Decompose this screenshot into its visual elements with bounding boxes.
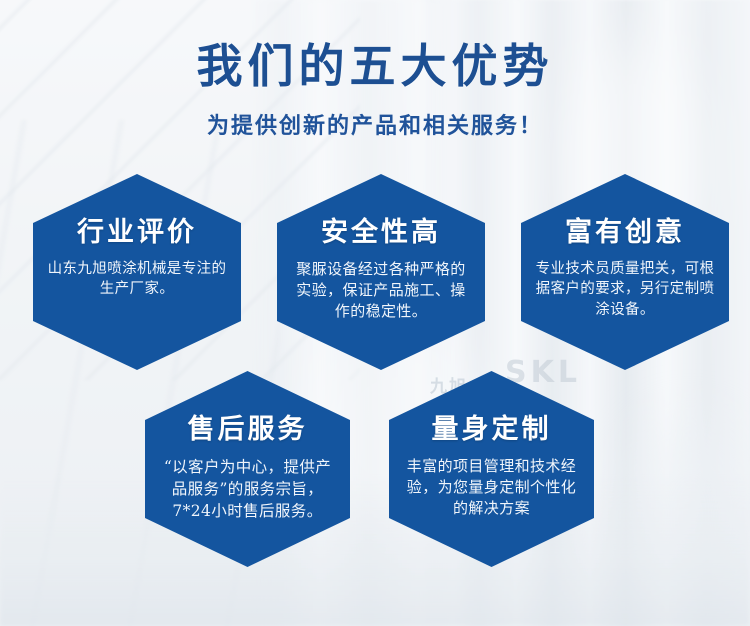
header: 我们的五大优势 为提供创新的产品和相关服务！ [0,38,750,140]
advantage-description: 聚脲设备经过各种严格的实验，保证产品施工、操作的稳定性。 [283,259,479,323]
advantage-description: “以客户为中心，提供产品服务”的服务宗旨，7*24小时售后服务。 [151,456,344,522]
poster-canvas: SKL 九旭 我们的五大优势 为提供创新的产品和相关服务！ 行业评价 山东九旭喷… [0,0,750,626]
advantage-title: 量身定制 [395,414,588,446]
advantage-card-content: 安全性高 聚脲设备经过各种严格的实验，保证产品施工、操作的稳定性。 [283,217,479,322]
page-title: 我们的五大优势 [0,38,750,96]
page-subtitle: 为提供创新的产品和相关服务！ [0,108,750,140]
advantage-description: 丰富的项目管理和技术经验，为您量身定制个性化的解决方案 [395,456,588,520]
advantage-card-content: 富有创意 专业技术员质量把关，可根据客户的要求，另行定制喷涂设备。 [527,217,723,320]
advantage-card-content: 行业评价 山东九旭喷涂机械是专注的生产厂家。 [39,217,235,300]
advantage-card-content: 售后服务 “以客户为中心，提供产品服务”的服务宗旨，7*24小时售后服务。 [151,414,344,521]
advantage-card-content: 量身定制 丰富的项目管理和技术经验，为您量身定制个性化的解决方案 [395,414,588,519]
advantage-title: 富有创意 [527,217,723,249]
advantage-title: 行业评价 [39,217,235,249]
advantage-description: 山东九旭喷涂机械是专注的生产厂家。 [39,259,235,300]
advantage-description: 专业技术员质量把关，可根据客户的要求，另行定制喷涂设备。 [527,259,723,321]
advantage-title: 安全性高 [283,217,479,249]
advantage-title: 售后服务 [151,414,344,446]
